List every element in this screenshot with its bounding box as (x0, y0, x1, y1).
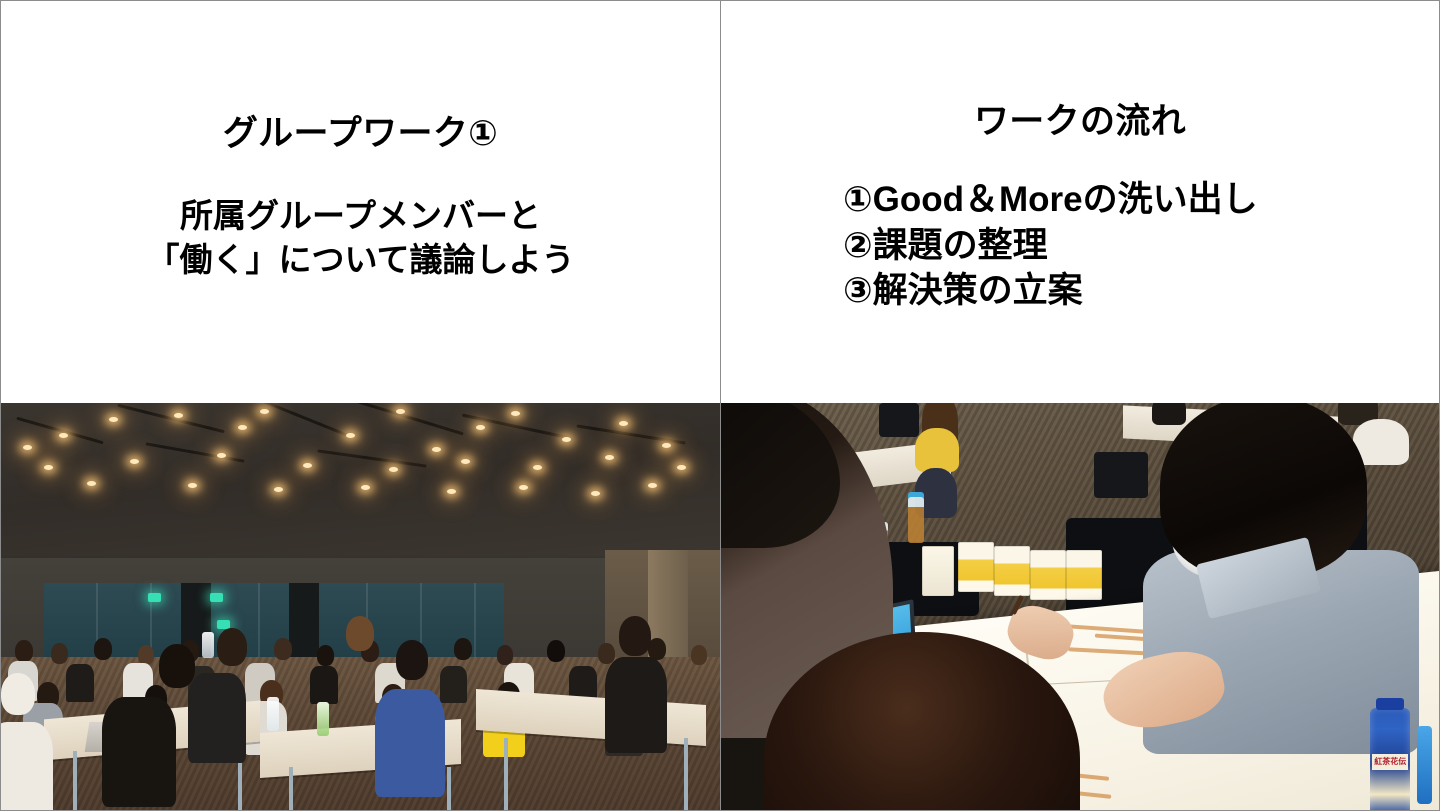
juice-box (994, 546, 1030, 596)
person-head (547, 640, 565, 662)
juice-box (1030, 550, 1066, 600)
ceiling-spotlight (174, 413, 183, 418)
person-torso (375, 689, 445, 797)
bottle-label: 紅茶花伝 (1372, 754, 1408, 770)
ceiling-spotlight (533, 465, 542, 470)
background-person (915, 428, 959, 472)
bottled-tea: 紅茶花伝 (1370, 708, 1410, 811)
person-head (94, 638, 112, 660)
juice-box (922, 546, 954, 596)
person-head (138, 645, 154, 665)
slide-work-flow: ワークの流れ ①Good＆Moreの洗い出し ②課題の整理 ③解決策の立案 (720, 0, 1440, 811)
exit-sign-icon (210, 593, 223, 602)
ceiling-spotlight (361, 485, 370, 490)
person-head (346, 616, 374, 651)
table-leg (447, 767, 451, 811)
water-bottle (267, 697, 279, 731)
tea-bottle (908, 497, 924, 543)
person-head (619, 616, 651, 656)
slide-text-area-right: ワークの流れ ①Good＆Moreの洗い出し ②課題の整理 ③解決策の立案 (721, 1, 1439, 403)
slide-text-area-left: グループワーク① 所属グループメンバーと 「働く」について議論しよう (1, 1, 720, 403)
ceiling-spotlight (188, 483, 197, 488)
bottle-cap (1376, 698, 1404, 710)
person-head (274, 638, 292, 660)
person-head (317, 645, 334, 666)
person-head (396, 640, 428, 680)
exit-sign-icon (148, 593, 161, 602)
ceiling-spotlight (109, 417, 118, 422)
table-leg (684, 738, 688, 811)
ceiling (1, 403, 720, 575)
ceiling-spotlight (23, 445, 32, 450)
background-chair (879, 403, 919, 437)
table-leg (289, 767, 293, 811)
person-head (691, 645, 707, 665)
ceiling-spotlight (476, 425, 485, 430)
tea-bottle (317, 702, 329, 736)
hall-scene (1, 403, 720, 811)
hair (721, 403, 840, 548)
person-head (15, 640, 33, 662)
work-flow-list: ①Good＆Moreの洗い出し ②課題の整理 ③解決策の立案 (843, 177, 1258, 314)
person-torso (66, 664, 94, 702)
person-torso (102, 697, 176, 807)
person-head (1, 673, 35, 715)
blue-marker-pen (1417, 726, 1432, 804)
slide-deck: グループワーク① 所属グループメンバーと 「働く」について議論しよう (0, 0, 1440, 811)
ceiling-spotlight (562, 437, 571, 442)
person-torso (605, 657, 667, 753)
person-head (217, 628, 247, 666)
ceiling-spotlight (260, 409, 269, 414)
ceiling-spotlight (217, 453, 226, 458)
slide-body-left: 所属グループメンバーと 「働く」について議論しよう (1, 194, 720, 282)
ceiling-spotlight (303, 463, 312, 468)
seminar-hall-photo (1, 403, 720, 811)
body-line: 所属グループメンバーと (1, 194, 720, 238)
person-torso (440, 666, 467, 703)
person-torso (1, 722, 53, 811)
list-item: ③解決策の立案 (843, 268, 1258, 314)
page-title-work-flow: ワークの流れ (721, 93, 1439, 144)
body-line: 「働く」について議論しよう (1, 238, 720, 282)
ceiling-spotlight (519, 485, 528, 490)
person-torso (188, 673, 246, 763)
water-bottle (202, 632, 214, 658)
list-item: ②課題の整理 (843, 223, 1258, 269)
table-leg (73, 751, 77, 811)
ceiling-spotlight (605, 455, 614, 460)
person-head (454, 638, 472, 660)
page-title-group-work: グループワーク① (1, 105, 720, 156)
ceiling-spotlight (677, 465, 686, 470)
participant-right (1137, 403, 1424, 747)
table-leg (504, 738, 508, 811)
ceiling-spotlight (59, 433, 68, 438)
juice-box (1066, 550, 1102, 600)
ceiling-spotlight (591, 491, 600, 496)
person-head (51, 643, 68, 664)
ceiling-spotlight (447, 489, 456, 494)
juice-box (958, 542, 994, 592)
workshop-scene: 紅茶花伝 (721, 403, 1439, 811)
person-torso (310, 666, 338, 704)
person-head (159, 644, 195, 688)
slide-group-work-1: グループワーク① 所属グループメンバーと 「働く」について議論しよう (0, 0, 720, 811)
list-item: ①Good＆Moreの洗い出し (843, 177, 1258, 223)
person-head (497, 645, 513, 665)
group-discussion-closeup-photo: 紅茶花伝 (721, 403, 1439, 811)
